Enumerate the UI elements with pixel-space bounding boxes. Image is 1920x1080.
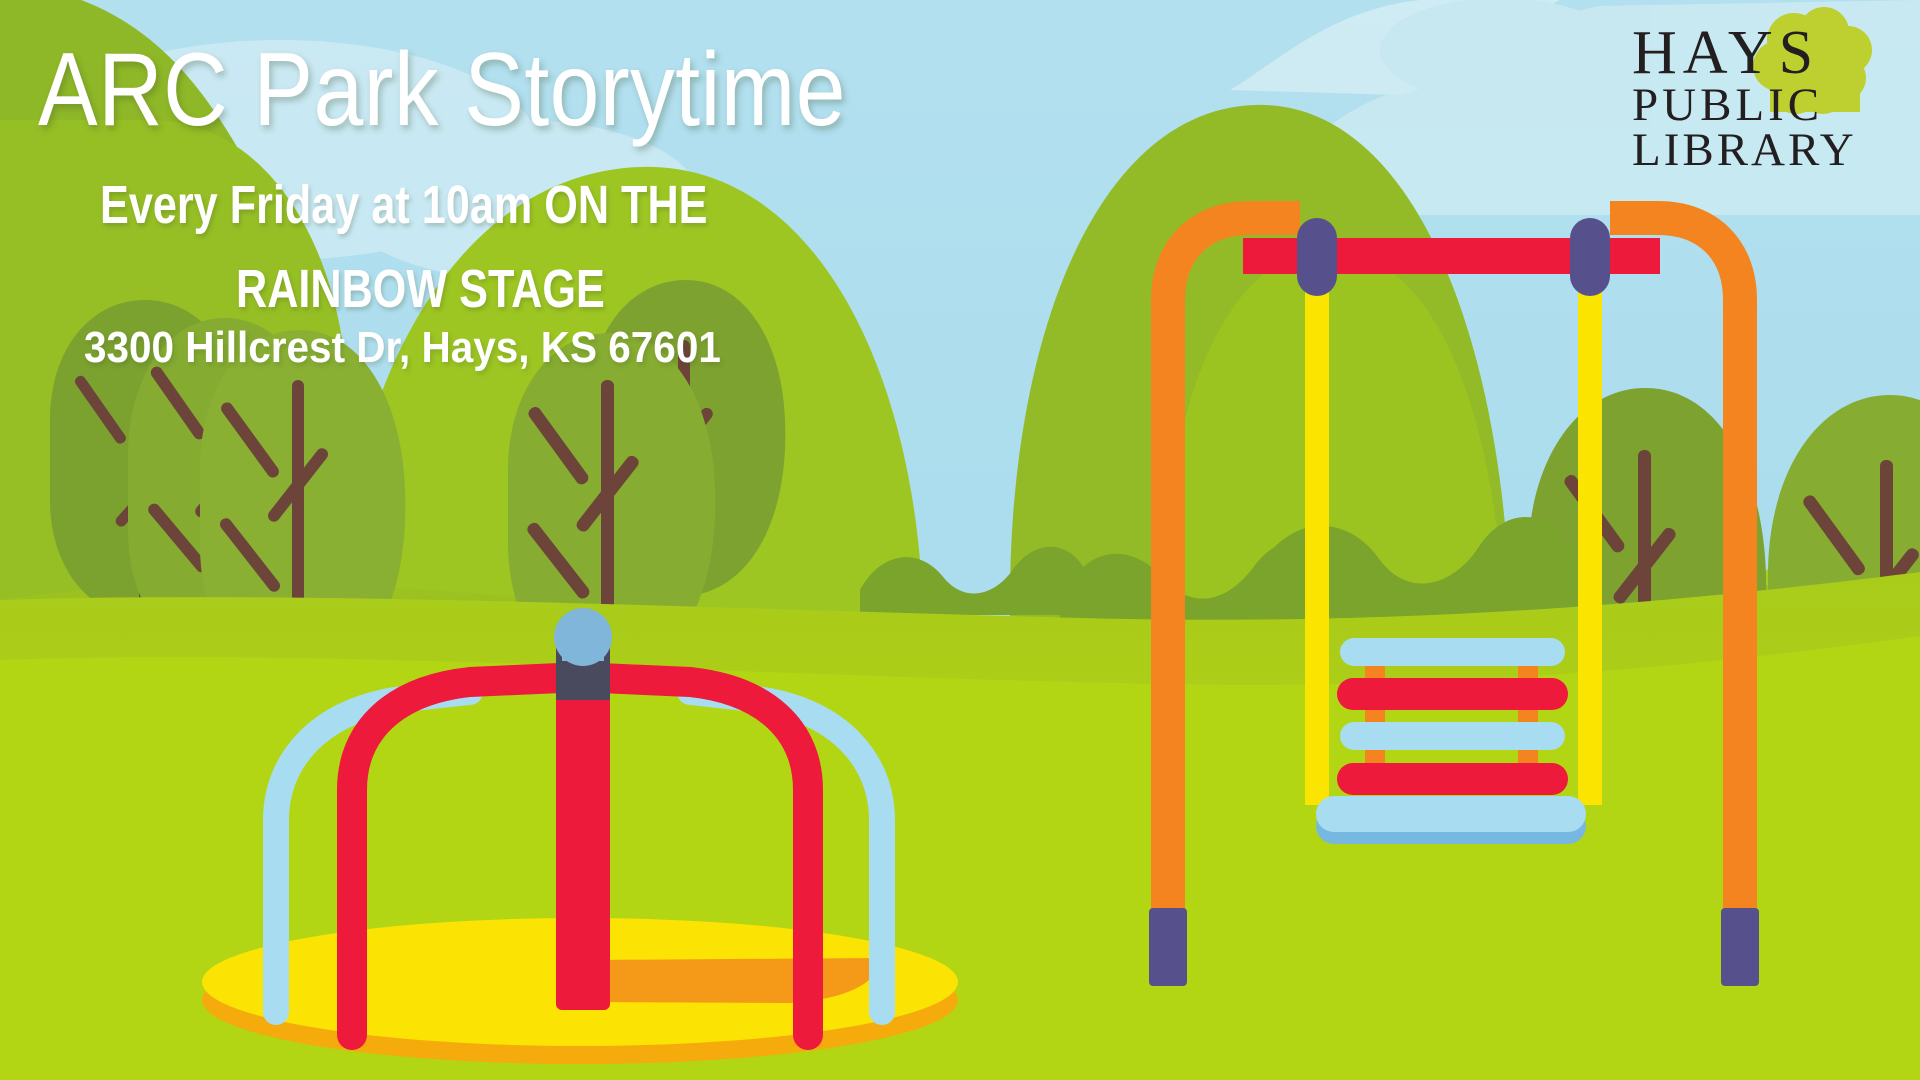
swing-slat-red (1337, 678, 1568, 710)
swing-slat-blue (1340, 722, 1565, 750)
swing-slat-red (1337, 763, 1568, 795)
swing-foot-left (1149, 908, 1187, 986)
park-illustration (0, 0, 1920, 1080)
swing-slat-blue (1340, 638, 1565, 666)
mgr-cap-neck (562, 635, 604, 661)
swing-foot-right (1721, 908, 1759, 986)
swing-hanger-left (1305, 250, 1329, 805)
mgr-center-post (556, 660, 610, 1010)
swing-connector-left (1297, 218, 1337, 296)
swing-connector-right (1570, 218, 1610, 296)
swing-seat (1316, 796, 1586, 832)
poster-canvas: ARC Park Storytime Every Friday at 10am … (0, 0, 1920, 1080)
swing-hanger-right (1578, 250, 1602, 805)
